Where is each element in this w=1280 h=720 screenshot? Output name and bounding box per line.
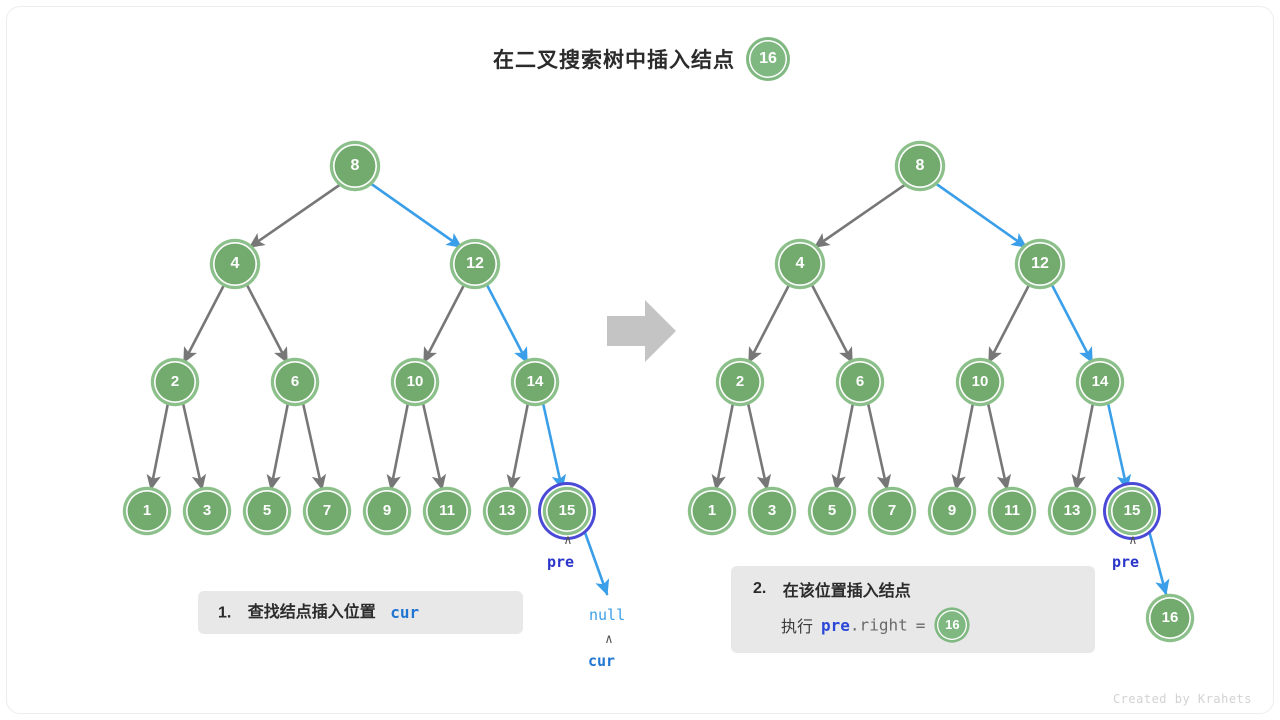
left-tree-node-4: 4: [213, 242, 257, 286]
pre-label-left: pre: [547, 553, 574, 571]
right-tree-node-2: 2: [719, 361, 761, 403]
null-label: null: [589, 606, 625, 624]
left-tree-node-14: 14: [514, 361, 556, 403]
caption-2-equals: =: [916, 616, 926, 635]
left-tree-node-15: 15: [546, 490, 588, 532]
left-tree-node-1: 1: [126, 490, 168, 532]
caption-2-line-1: 2. 在该位置插入结点: [753, 577, 1073, 601]
right-tree-node-5: 5: [811, 490, 853, 532]
left-tree-node-2: 2: [154, 361, 196, 403]
left-tree-node-11: 11: [426, 490, 468, 532]
caption-2-pointer: pre: [821, 616, 850, 635]
transition-arrow-icon: [607, 300, 676, 362]
page-title: 在二叉搜索树中插入结点16: [0, 40, 1280, 78]
right-tree-node-10: 10: [959, 361, 1001, 403]
caption-2-value-badge: 16: [937, 610, 967, 640]
title-value-badge: 16: [749, 40, 787, 78]
title-text: 在二叉搜索树中插入结点: [493, 49, 735, 72]
pre-label-right: pre: [1112, 553, 1139, 571]
right-tree-node-16: 16: [1149, 597, 1191, 639]
left-tree-node-3: 3: [186, 490, 228, 532]
left-tree-node-12: 12: [453, 242, 497, 286]
left-tree-node-9: 9: [366, 490, 408, 532]
right-tree-node-6: 6: [839, 361, 881, 403]
right-tree-node-1: 1: [691, 490, 733, 532]
left-tree-node-7: 7: [306, 490, 348, 532]
caption-1-text: 查找结点插入位置: [248, 604, 376, 621]
right-tree-node-14: 14: [1079, 361, 1121, 403]
cur-caret-left: ∧: [605, 632, 613, 647]
right-tree-node-11: 11: [991, 490, 1033, 532]
right-tree-node-8: 8: [898, 144, 942, 188]
left-tree-node-10: 10: [394, 361, 436, 403]
pre-caret-left: ∧: [564, 533, 572, 548]
right-tree-node-13: 13: [1051, 490, 1093, 532]
left-tree-node-5: 5: [246, 490, 288, 532]
left-tree-node-6: 6: [274, 361, 316, 403]
caption-2-field: .right: [850, 616, 908, 635]
caption-2-text: 在该位置插入结点: [783, 583, 911, 600]
diagram-stage: 在二叉搜索树中插入结点16 841226101413579111315 ∧ pr…: [0, 0, 1280, 720]
right-tree-node-12: 12: [1018, 242, 1062, 286]
pre-caret-right: ∧: [1129, 533, 1137, 548]
caption-step-2: 2. 在该位置插入结点 执行pre.right=16: [731, 566, 1095, 653]
right-tree-node-4: 4: [778, 242, 822, 286]
caption-2-exec: 执行: [781, 619, 813, 636]
right-tree-node-15: 15: [1111, 490, 1153, 532]
left-tree-node-8: 8: [333, 144, 377, 188]
caption-step-1: 1. 查找结点插入位置 cur: [198, 591, 523, 634]
cur-label-left: cur: [588, 652, 615, 670]
right-tree-node-9: 9: [931, 490, 973, 532]
caption-1-number: 1.: [218, 604, 231, 621]
caption-2-line-2: 执行pre.right=16: [753, 610, 1073, 640]
left-tree-node-13: 13: [486, 490, 528, 532]
right-tree-node-3: 3: [751, 490, 793, 532]
caption-2-number: 2.: [753, 580, 766, 597]
caption-1-pointer: cur: [390, 603, 419, 622]
right-tree-node-7: 7: [871, 490, 913, 532]
watermark: Created by Krahets: [1113, 692, 1252, 706]
